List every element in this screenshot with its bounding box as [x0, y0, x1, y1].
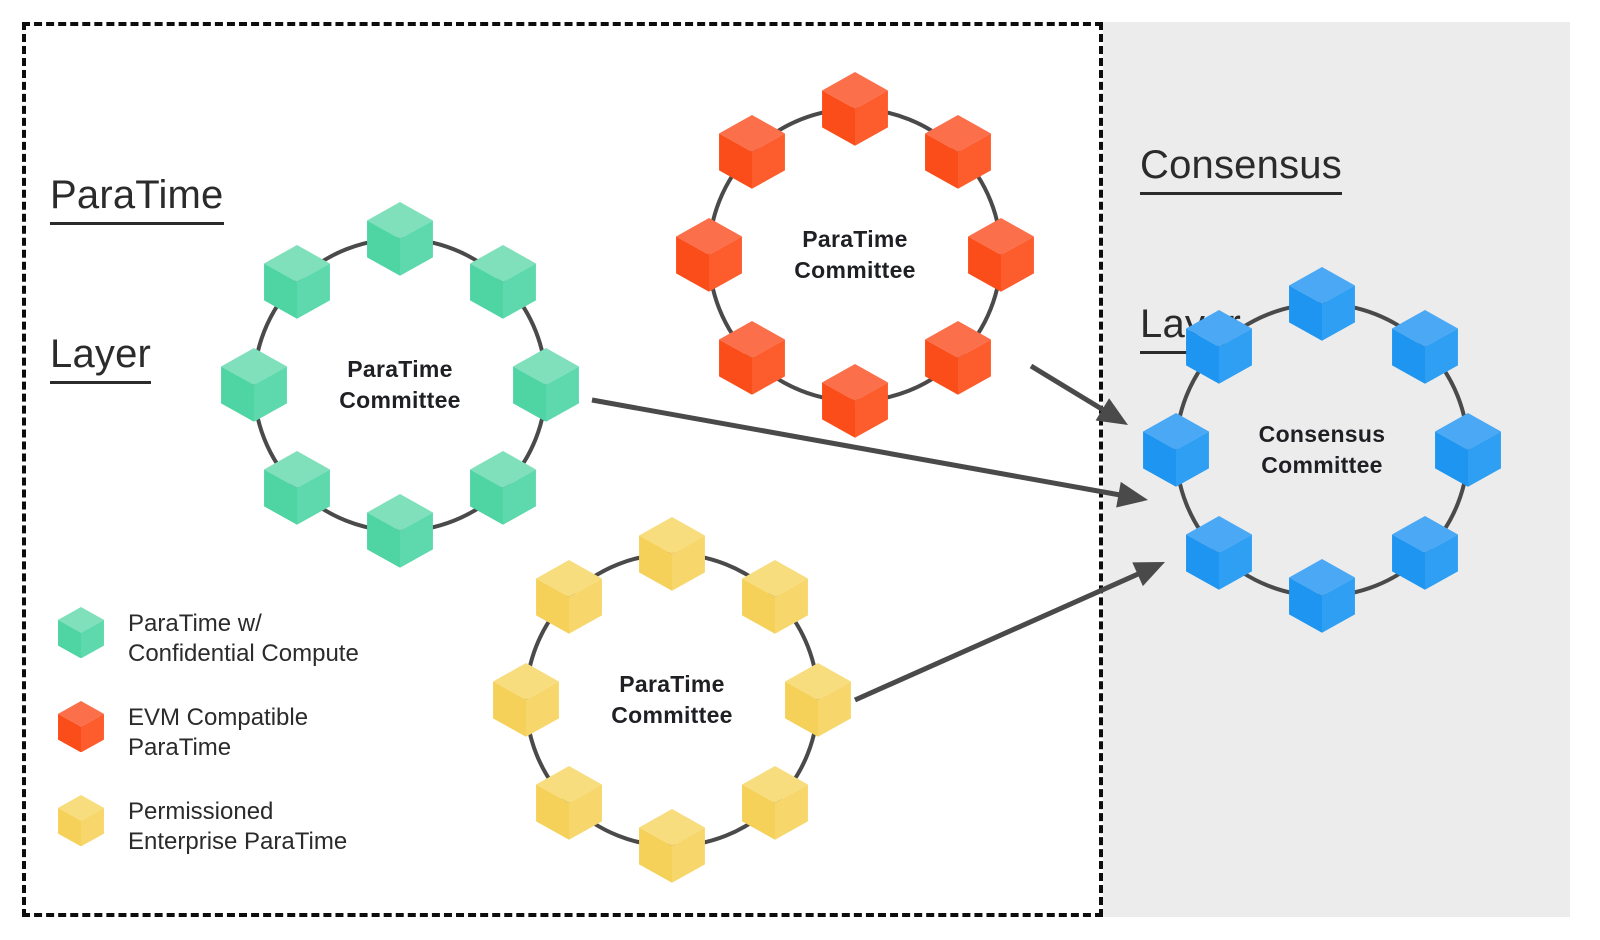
committee-node-cube	[1392, 310, 1458, 389]
legend-cube-icon	[58, 701, 106, 753]
legend-item-label: EVM Compatible ParaTime	[128, 699, 308, 763]
committee-node-cube	[1435, 413, 1501, 492]
legend-item-green: ParaTime w/ Confidential Compute	[58, 605, 359, 669]
cube-icon	[785, 663, 851, 737]
cube-icon	[1289, 559, 1355, 633]
committee-node-cube	[221, 348, 287, 427]
committee-node-cube	[470, 245, 536, 324]
committee-node-cube	[1392, 516, 1458, 595]
cube-icon	[221, 348, 287, 422]
cube-icon	[58, 795, 104, 846]
committee-node-cube	[1289, 559, 1355, 638]
cube-icon	[719, 321, 785, 395]
arrow-shaft	[855, 572, 1143, 700]
cube-icon	[1392, 516, 1458, 590]
legend: ParaTime w/ Confidential ComputeEVM Comp…	[58, 605, 359, 887]
committee-node-cube	[367, 494, 433, 573]
cube-icon	[58, 607, 104, 658]
cube-icon	[822, 72, 888, 146]
diagram-canvas: ParaTime Layer Consensus Layer ParaTimeC…	[0, 0, 1600, 940]
cube-icon	[742, 766, 808, 840]
committee-node-cube	[822, 72, 888, 151]
committee-node-cube	[925, 115, 991, 194]
committee-node-cube	[639, 517, 705, 596]
committee-node-cube	[264, 451, 330, 530]
cube-icon	[536, 560, 602, 634]
committee-node-cube	[513, 348, 579, 427]
committee-node-cube	[493, 663, 559, 742]
cube-icon	[264, 451, 330, 525]
legend-item-red: EVM Compatible ParaTime	[58, 699, 359, 763]
cube-icon	[719, 115, 785, 189]
cube-icon	[264, 245, 330, 319]
cube-icon	[1186, 516, 1252, 590]
committee-node-cube	[1143, 413, 1209, 492]
legend-item-label: Permissioned Enterprise ParaTime	[128, 793, 347, 857]
cube-icon	[742, 560, 808, 634]
cube-icon	[367, 494, 433, 568]
committee-node-cube	[676, 218, 742, 297]
cube-icon	[822, 364, 888, 438]
committee-node-cube	[925, 321, 991, 400]
legend-item-yellow: Permissioned Enterprise ParaTime	[58, 793, 359, 857]
committee-node-cube	[719, 115, 785, 194]
cube-icon	[536, 766, 602, 840]
cube-icon	[1289, 267, 1355, 341]
committee-node-cube	[785, 663, 851, 742]
cube-icon	[968, 218, 1034, 292]
committee-node-cube	[367, 202, 433, 281]
committee-ring-red: ParaTimeCommittee	[643, 43, 1067, 467]
committee-node-cube	[536, 560, 602, 639]
cube-icon	[493, 663, 559, 737]
cube-icon	[676, 218, 742, 292]
cube-icon	[513, 348, 579, 422]
committee-node-cube	[1289, 267, 1355, 346]
committee-ring-yellow: ParaTimeCommittee	[460, 488, 884, 912]
cube-icon	[925, 321, 991, 395]
legend-item-label: ParaTime w/ Confidential Compute	[128, 605, 359, 669]
cube-icon	[1392, 310, 1458, 384]
committee-node-cube	[742, 560, 808, 639]
committee-node-cube	[742, 766, 808, 845]
cube-icon	[58, 701, 104, 752]
cube-icon	[1143, 413, 1209, 487]
cube-icon	[639, 809, 705, 883]
cube-icon	[367, 202, 433, 276]
cube-icon	[1186, 310, 1252, 384]
committee-node-cube	[1186, 310, 1252, 389]
committee-node-cube	[1186, 516, 1252, 595]
committee-node-cube	[968, 218, 1034, 297]
committee-node-cube	[822, 364, 888, 443]
committee-node-cube	[536, 766, 602, 845]
cube-icon	[1435, 413, 1501, 487]
committee-ring-blue: ConsensusCommittee	[1110, 238, 1534, 662]
committee-node-cube	[639, 809, 705, 888]
committee-node-cube	[719, 321, 785, 400]
cube-icon	[470, 245, 536, 319]
cube-icon	[639, 517, 705, 591]
legend-cube-icon	[58, 607, 106, 659]
cube-icon	[925, 115, 991, 189]
committee-node-cube	[264, 245, 330, 324]
legend-cube-icon	[58, 795, 106, 847]
